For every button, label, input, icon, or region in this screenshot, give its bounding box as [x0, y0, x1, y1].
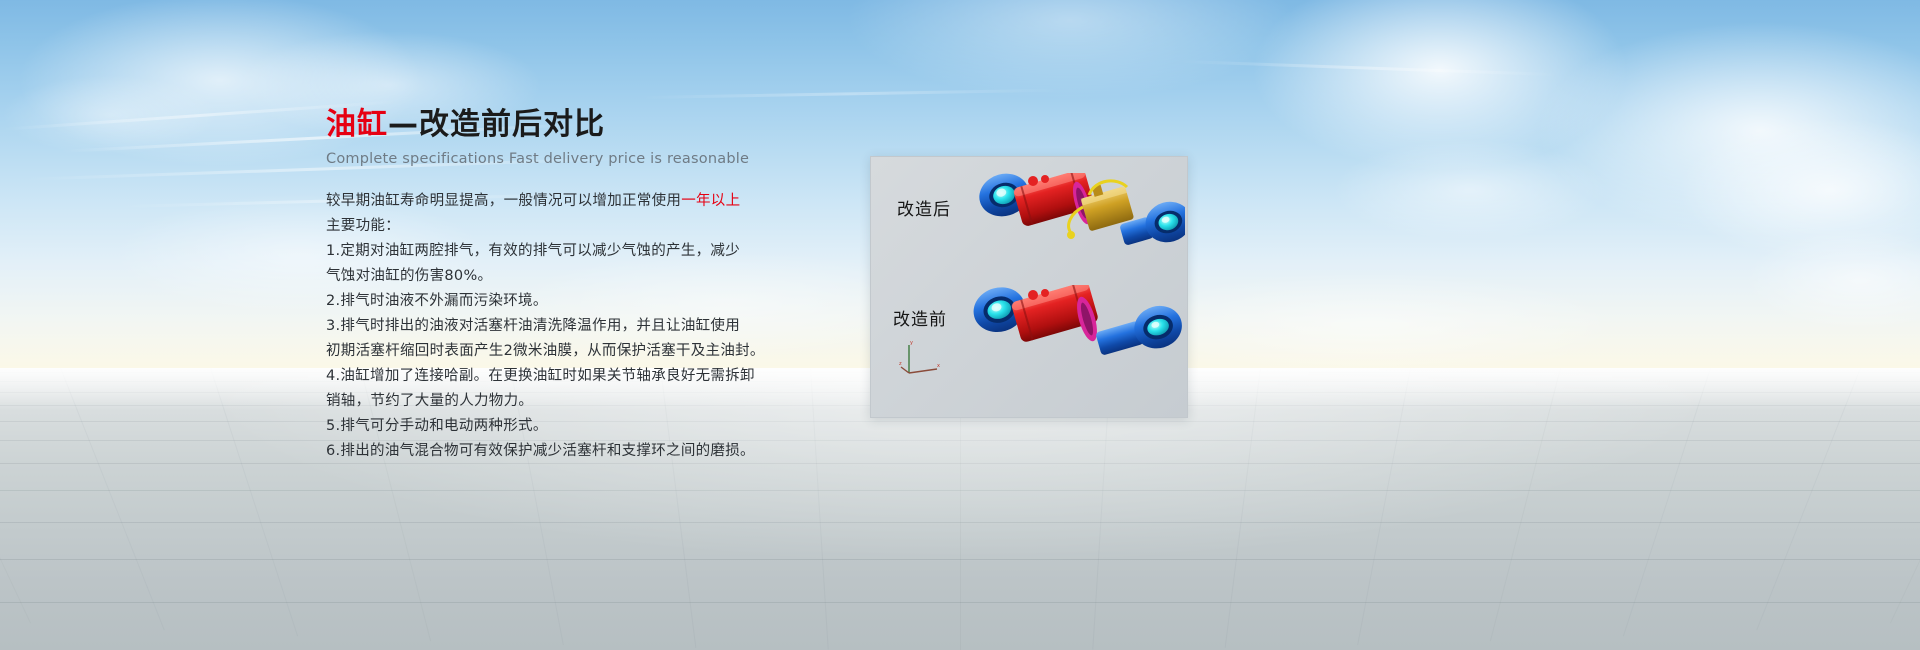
- title-highlight: 油缸: [326, 107, 388, 142]
- cloud-streak: [640, 89, 1060, 99]
- cylinder-before-modification: [963, 285, 1185, 403]
- cloud-shape: [1450, 0, 1920, 280]
- label-before-modification: 改造前: [893, 305, 947, 330]
- title-rest: —改造前后对比: [388, 107, 605, 142]
- body-line-functions-label: 主要功能：: [326, 214, 846, 239]
- intro-text: 较早期油缸寿命明显提高，一般情况可以增加正常使用: [326, 193, 681, 209]
- body-line: 销轴，节约了大量的人力物力。: [326, 389, 846, 414]
- axis-triad-icon: y x z: [899, 339, 943, 379]
- page-title: 油缸—改造前后对比: [326, 106, 846, 144]
- banner-copy: 油缸—改造前后对比 Complete specifications Fast d…: [326, 106, 846, 464]
- cloud-shape: [1620, 90, 1920, 290]
- svg-text:y: y: [910, 340, 913, 346]
- body-line: 5.排气可分手动和电动两种形式。: [326, 414, 846, 439]
- body-line: 2.排气时油液不外漏而污染环境。: [326, 289, 846, 314]
- cloud-shape: [1280, 120, 1660, 260]
- svg-text:x: x: [937, 363, 940, 369]
- body-line: 4.油缸增加了连接哈副。在更换油缸时如果关节轴承良好无需拆卸: [326, 364, 846, 389]
- cylinder-after-modification: [967, 173, 1185, 285]
- body-line: 1.定期对油缸两腔排气，有效的排气可以减少气蚀的产生，减少: [326, 239, 846, 264]
- cloud-shape: [1180, 0, 1700, 210]
- body-line: 初期活塞杆缩回时表面产生2微米油膜，从而保护活塞干及主油封。: [326, 339, 846, 364]
- svg-text:z: z: [899, 361, 902, 367]
- page-subtitle: Complete specifications Fast delivery pr…: [326, 151, 846, 167]
- body-copy: 较早期油缸寿命明显提高，一般情况可以增加正常使用一年以上 主要功能： 1.定期对…: [326, 189, 846, 464]
- body-line: 气蚀对油缸的伤害80%。: [326, 264, 846, 289]
- intro-highlight: 一年以上: [681, 193, 740, 209]
- body-line: 6.排出的油气混合物可有效保护减少活塞杆和支撑环之间的磨损。: [326, 439, 846, 464]
- cloud-streak: [1180, 60, 1560, 76]
- body-line: 3.排气时排出的油液对活塞杆油清洗降温作用，并且让油缸使用: [326, 314, 846, 339]
- product-image-panel: 改造后 改造前 y x z: [870, 156, 1188, 418]
- cloud-shape: [1700, 210, 1920, 350]
- hero-banner: 油缸—改造前后对比 Complete specifications Fast d…: [0, 0, 1920, 650]
- label-after-modification: 改造后: [897, 195, 951, 220]
- body-line-intro: 较早期油缸寿命明显提高，一般情况可以增加正常使用一年以上: [326, 189, 846, 214]
